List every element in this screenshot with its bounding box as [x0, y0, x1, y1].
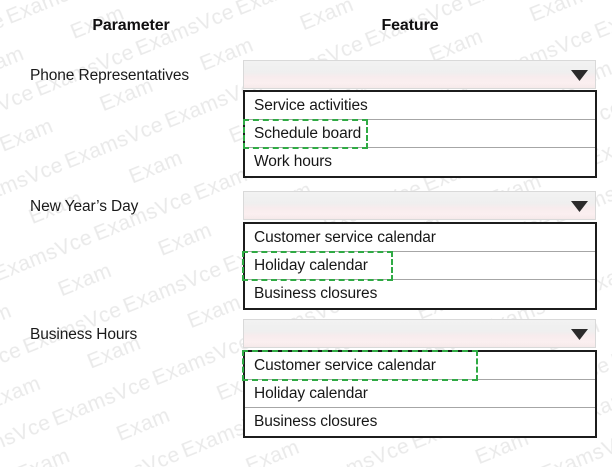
chevron-down-icon[interactable] [564, 62, 594, 89]
column-header-parameter: Parameter [0, 17, 262, 35]
list-item[interactable]: Holiday calendar [245, 380, 595, 408]
list-item[interactable]: Holiday calendar [245, 252, 595, 280]
column-header-feature: Feature [262, 17, 558, 35]
feature-option-list-0[interactable]: Service activities Schedule board Work h… [243, 90, 597, 178]
list-item[interactable]: Business closures [245, 408, 595, 436]
chevron-down-icon[interactable] [564, 193, 594, 220]
parameter-label: Phone Representatives [30, 67, 189, 85]
list-item[interactable]: Business closures [245, 280, 595, 308]
feature-dropdown-2[interactable] [243, 319, 596, 348]
list-item[interactable]: Customer service calendar [245, 352, 595, 380]
parameter-label: New Year’s Day [30, 198, 138, 216]
parameter-label: Business Hours [30, 326, 137, 344]
list-item[interactable]: Work hours [245, 148, 595, 176]
list-item[interactable]: Schedule board [245, 120, 595, 148]
feature-option-list-1[interactable]: Customer service calendar Holiday calend… [243, 222, 597, 310]
chevron-down-icon[interactable] [564, 321, 594, 348]
feature-dropdown-1[interactable] [243, 191, 596, 220]
list-item[interactable]: Service activities [245, 92, 595, 120]
feature-dropdown-0[interactable] [243, 60, 596, 89]
feature-option-list-2[interactable]: Customer service calendar Holiday calend… [243, 350, 597, 438]
list-item[interactable]: Customer service calendar [245, 224, 595, 252]
question-canvas: Parameter Feature Phone Representatives … [0, 0, 612, 467]
